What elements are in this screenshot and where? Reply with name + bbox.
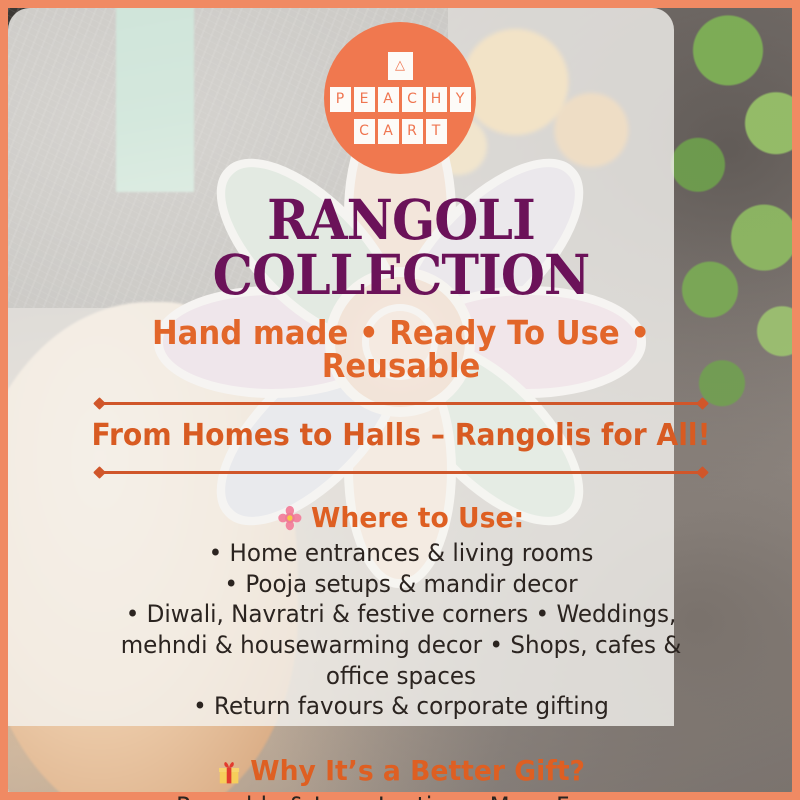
divider-top xyxy=(95,398,707,408)
subtitle: Hand made • Ready To Use • Reusable xyxy=(91,316,710,382)
list-item: • Home entrances & living rooms xyxy=(96,538,707,569)
logo-letter-tile: C xyxy=(354,119,375,144)
tagline: From Homes to Halls – Rangolis for All! xyxy=(88,421,714,451)
why-better-gift-heading-label: Why It’s a Better Gift? xyxy=(250,756,585,787)
where-to-use-list: • Home entrances & living rooms • Pooja … xyxy=(96,538,707,722)
logo-letter-tile: A xyxy=(378,87,399,112)
diamond-icon xyxy=(696,466,709,479)
poster: △ P E A C H Y C A R T RANGOLI COLLECTION… xyxy=(0,0,800,800)
list-item: • Return favours & corporate gifting xyxy=(96,691,707,722)
why-better-gift-list: Reusable & Long-Lasting • Mess-Free • Li… xyxy=(107,791,695,800)
list-item: Reusable & Long-Lasting • Mess-Free • Li… xyxy=(107,791,695,800)
list-item: • Diwali, Navratri & festive corners • W… xyxy=(96,599,707,691)
why-better-gift-heading: Why It’s a Better Gift? xyxy=(85,756,718,787)
logo-letter-tile: C xyxy=(402,87,423,112)
logo-letter-tile: T xyxy=(426,119,447,144)
logo-letter-tile: R xyxy=(402,119,423,144)
divider-bar xyxy=(101,471,701,474)
brand-logo[interactable]: △ P E A C H Y C A R T xyxy=(324,22,476,174)
poster-content: RANGOLI COLLECTION Hand made • Ready To … xyxy=(68,82,734,800)
logo-letter-tile: H xyxy=(426,87,447,112)
logo-letter-tile: P xyxy=(330,87,351,112)
logo-top-row: △ xyxy=(388,52,413,80)
wrapped-gift-icon xyxy=(217,759,242,785)
logo-letter-tile: Y xyxy=(450,87,471,112)
list-item: • Pooja setups & mandir decor xyxy=(96,569,707,600)
where-to-use-heading: Where to Use: xyxy=(85,503,718,534)
divider-bottom xyxy=(95,467,707,477)
logo-cart-row: C A R T xyxy=(354,119,447,144)
logo-letter-tile: E xyxy=(354,87,375,112)
divider-bar xyxy=(101,402,701,405)
diamond-icon xyxy=(696,397,709,410)
cherry-blossom-icon xyxy=(278,505,303,531)
where-to-use-heading-label: Where to Use: xyxy=(311,503,524,534)
logo-triangle-icon: △ xyxy=(388,52,413,80)
logo-letter-tile: A xyxy=(378,119,399,144)
logo-peachy-row: P E A C H Y xyxy=(330,87,471,112)
